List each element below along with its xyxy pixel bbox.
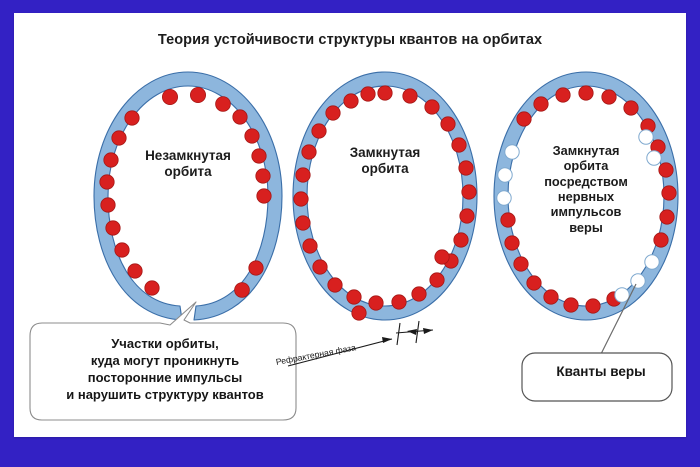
orbit-unclosed — [94, 72, 282, 320]
quantum-red — [602, 90, 616, 104]
orbit-closed-ring — [293, 72, 477, 320]
quantum-white — [505, 145, 519, 159]
quantum-red — [294, 192, 308, 206]
quantum-red — [517, 112, 531, 126]
quantum-red — [454, 233, 468, 247]
quantum-red — [235, 283, 250, 298]
orbit-unclosed-ring — [94, 72, 282, 320]
quantum-red — [586, 299, 600, 313]
orbit-unclosed-quanta — [100, 87, 271, 297]
callout-gap-label: Участки орбиты, куда могут проникнуть по… — [30, 336, 300, 404]
quantum-red — [369, 296, 383, 310]
orbit-closed-faith-label: Замкнутая орбита посредством нервных имп… — [522, 143, 650, 235]
quantum-red — [435, 250, 449, 264]
quantum-red — [303, 239, 317, 253]
quantum-red — [659, 163, 673, 177]
quantum-red — [564, 298, 578, 312]
quantum-red — [347, 290, 361, 304]
quantum-red — [249, 261, 263, 275]
quantum-red — [462, 185, 476, 199]
quantum-red — [527, 276, 541, 290]
quantum-white — [498, 168, 512, 182]
quantum-red — [302, 145, 316, 159]
orbit-closed — [293, 72, 477, 320]
quantum-red — [624, 101, 638, 115]
quantum-red — [106, 221, 120, 235]
quantum-red — [441, 117, 455, 131]
orbit-unclosed-label: Незамкнутая орбита — [118, 148, 258, 181]
quantum-red — [425, 100, 439, 114]
quantum-red — [556, 88, 570, 102]
quantum-red — [392, 295, 406, 309]
quantum-red — [145, 281, 159, 295]
quantum-white — [497, 191, 511, 205]
orbit-closed-label: Замкнутая орбита — [320, 145, 450, 178]
quantum-red — [100, 175, 114, 189]
quantum-red — [313, 260, 327, 274]
quantum-red — [361, 87, 375, 101]
quantum-red — [296, 216, 310, 230]
quantum-red — [544, 290, 558, 304]
quantum-red — [412, 287, 426, 301]
page-title: Теория устойчивости структуры квантов на… — [0, 32, 700, 48]
quantum-red — [328, 278, 342, 292]
quantum-red — [112, 131, 126, 145]
quantum-red — [115, 243, 129, 257]
quantum-red — [501, 213, 515, 227]
quantum-red — [403, 89, 417, 103]
quantum-red — [660, 210, 674, 224]
callout-faith-quanta-label: Кванты веры — [528, 363, 674, 381]
quantum-red — [233, 110, 247, 124]
quantum-red — [460, 209, 474, 223]
quantum-red — [190, 87, 205, 102]
quantum-red — [430, 273, 444, 287]
quantum-red — [245, 129, 259, 143]
quantum-red — [662, 186, 676, 200]
quantum-white — [615, 288, 629, 302]
quantum-red — [104, 153, 118, 167]
quantum-red — [312, 124, 326, 138]
quantum-red — [257, 189, 271, 203]
image-frame: Теория устойчивости структуры квантов на… — [0, 0, 700, 467]
refractory-leader-arrowhead — [382, 337, 392, 343]
quantum-red — [452, 138, 466, 152]
quantum-red — [654, 233, 668, 247]
quantum-red — [296, 168, 310, 182]
dimension-tick-left — [397, 323, 400, 345]
quantum-red — [505, 236, 519, 250]
quantum-red — [162, 89, 177, 104]
quantum-red — [534, 97, 548, 111]
quantum-red — [101, 198, 115, 212]
quantum-red — [128, 264, 142, 278]
quantum-red — [579, 86, 593, 100]
quantum-red — [326, 106, 340, 120]
dimension-arrow-right — [423, 328, 433, 334]
quantum-red — [378, 86, 392, 100]
quantum-red — [459, 161, 473, 175]
quantum-white — [645, 255, 659, 269]
quantum-red — [125, 111, 139, 125]
quantum-red — [352, 306, 366, 320]
quantum-red — [514, 257, 528, 271]
quantum-white — [631, 274, 645, 288]
quantum-red — [216, 97, 231, 112]
quantum-red — [344, 94, 358, 108]
